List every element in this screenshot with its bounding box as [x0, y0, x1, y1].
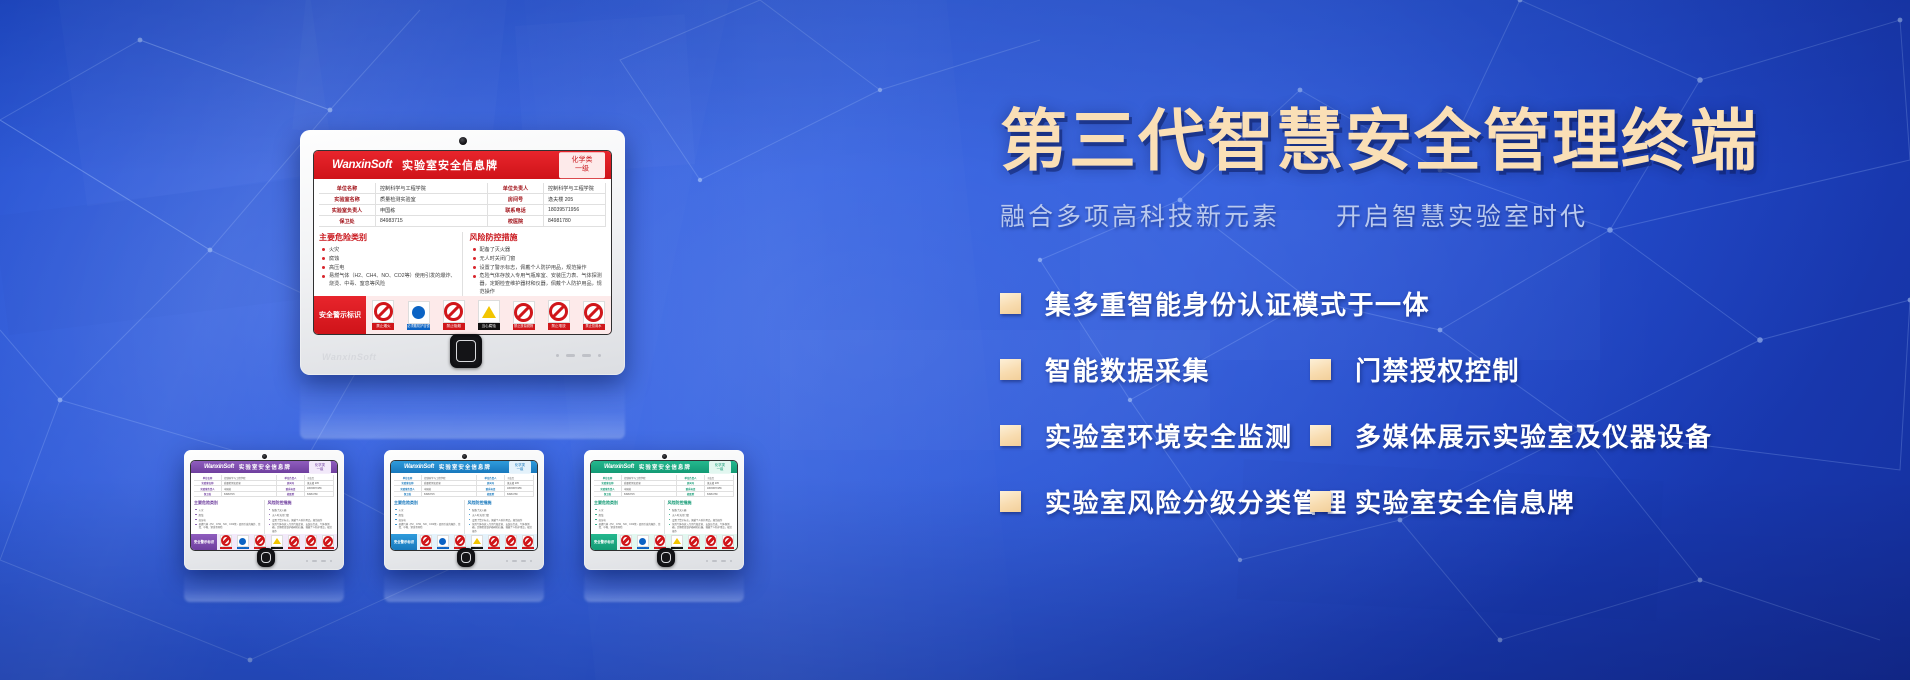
device-indicator-lights [506, 560, 532, 562]
cell-value: 84981780 [305, 492, 334, 498]
cell-value: 18039571956 [544, 205, 606, 216]
wanxinsoft-logo: WanxinSoft [604, 464, 634, 470]
sign-caption: 禁止放易燃物 [513, 324, 535, 330]
board-info-table: 单位名称 控制科学与工程学院 单位负责人 于连军 实验室名称 质量检测实验室 房… [194, 475, 334, 497]
list-item-text: 设置了警示标志，佩戴个人防护用品，规范操作 [272, 518, 334, 522]
cell-value: 控制科学与工程学院 [544, 183, 606, 194]
camera-icon [662, 454, 667, 459]
sign-no-drinking-water-icon: 禁止饮用水 [522, 535, 534, 549]
sign-caption: 禁止饮用水 [722, 547, 734, 549]
tablet-reflection [584, 572, 744, 602]
thumbnail-screen[interactable]: WanxinSoft 实验室安全信息牌 化学类 一级 单位名称 控制科学与工程学… [191, 461, 337, 550]
device-brand-etch: WanxinSoft [322, 352, 376, 362]
sign-no-flammables-icon: 禁止放易燃物 [688, 535, 700, 549]
safety-info-board-mini: WanxinSoft 实验室安全信息牌 化学类 一级 单位名称 控制科学与工程学… [191, 461, 337, 550]
list-item-text: 设置了警示标志，佩戴个人防护用品，规范操作 [480, 264, 607, 271]
warning-signs-strip: 禁止烟火 必须戴防护目镜 禁止吸烟 当心腐蚀 禁止放易燃物 禁止堆放 禁止饮用水 [617, 534, 737, 550]
list-item: 设置了警示标志，佩戴个人防护用品，规范操作 [268, 518, 335, 522]
sign-caption: 禁止烟火 [420, 547, 432, 549]
list-item-text: 配备了灭火器 [272, 508, 334, 512]
list-item-text: 高压电 [199, 518, 261, 522]
board-title: 实验室安全信息牌 [402, 157, 498, 173]
camera-icon [262, 454, 267, 459]
thumbnail-screen[interactable]: WanxinSoft 实验室安全信息牌 化学类 一级 单位名称 控制科学与工程学… [591, 461, 737, 550]
feature-row-2: 智能数据采集 门禁授权控制 [1000, 351, 1880, 388]
sign-no-flammables-icon: 禁止放易燃物 [288, 535, 300, 549]
risk-control-column: 风险防控措施 配备了灭火器 无人时关闭门窗 设置了警示标志，佩戴个人防护用品，规… [264, 500, 335, 533]
list-item: 危险气体存放入专用气瓶库室、安装压力表、气体探测器，定期检查维护器材和仪器，佩戴… [470, 273, 607, 296]
board-risk-columns: 主要危险类别 火灾 腐蚀 高压电 易燃气体（H2、CH4、NO、CO2等）使用引… [394, 500, 534, 533]
list-item: 危险气体存放入专用气瓶库室、安装压力表、气体探测器，定期检查维护器材和仪器，佩戴… [468, 523, 535, 534]
hazard-category-column: 主要危险类别 火灾 腐蚀 高压电 [319, 232, 462, 296]
list-item-text: 易燃气体（H2、CH4、NO、CO2等）使用引发的爆炸、烧烫、中毒、窒息等风险 [599, 523, 661, 530]
sign-no-smoking-icon: 禁止吸烟 [454, 535, 466, 549]
sign-caption: 禁止放易燃物 [688, 547, 700, 549]
home-button[interactable] [257, 548, 275, 567]
list-item-text: 易燃气体（H2、CH4、NO、CO2等）使用引发的爆炸、烧烫、中毒、窒息等风险 [329, 273, 456, 288]
feature-row-3: 实验室环境安全监测 多媒体展示实验室及仪器设备 [1000, 417, 1880, 454]
list-item-text: 腐蚀 [329, 255, 456, 262]
list-item: 火灾 [594, 508, 661, 512]
list-item-text: 无人时关闭门窗 [672, 513, 734, 517]
warning-signs-strip: 禁止烟火 必须戴防护目镜 禁止吸烟 当心腐蚀 禁止放易燃物 禁止堆放 禁止饮用水 [417, 534, 537, 550]
list-item-text: 高压电 [399, 518, 461, 522]
subtitle-right: 开启智慧实验室时代 [1336, 197, 1588, 233]
risk-level-badge: 化学类 一级 [559, 152, 605, 178]
cell-value: 逸夫楼 205 [544, 194, 606, 205]
badge-level: 一级 [509, 467, 531, 471]
cell-value: 84981780 [505, 492, 534, 498]
cell-value: 控制科学与工程学院 [376, 183, 488, 194]
sign-caption: 禁止放易燃物 [288, 547, 300, 549]
board-header: WanxinSoft 实验室安全信息牌 化学类 一级 [591, 461, 737, 473]
thumbnail-tablet-purple[interactable]: WanxinSoft 实验室安全信息牌 化学类 一级 单位名称 控制科学与工程学… [184, 450, 344, 570]
home-button[interactable] [657, 548, 675, 567]
list-item: 无人时关闭门窗 [268, 513, 335, 517]
board-info-table: 单位名称 控制科学与工程学院 单位负责人 控制科学与工程学院 实验室名称 质量检… [319, 183, 606, 227]
list-item: 设置了警示标志，佩戴个人防护用品，规范操作 [470, 264, 607, 271]
feature-item-safety-board[interactable]: 实验室安全信息牌 [1310, 483, 1575, 520]
sign-no-stacking-icon: 禁止堆放 [548, 300, 570, 330]
list-item: 配备了灭火器 [470, 246, 607, 253]
cell-value: 申国栋 [376, 205, 488, 216]
signs-label: 安全警示标识 [591, 539, 617, 544]
warning-signs-strip: 禁止烟火 必须戴防护目镜 禁止吸烟 当心腐蚀 禁止放易燃物 禁止堆放 禁止饮用水 [217, 534, 337, 550]
list-item: 易燃气体（H2、CH4、NO、CO2等）使用引发的爆炸、烧烫、中毒、窒息等风险 [594, 523, 661, 530]
risk-control-column: 风险防控措施 配备了灭火器 无人时关闭门窗 设置了警示标志，佩戴个人防护用品，规… [464, 500, 535, 533]
list-item-text: 危险气体存放入专用气瓶库室、安装压力表、气体探测器，定期检查维护器材和仪器，佩戴… [272, 523, 334, 534]
cell-label: 单位负责人 [488, 183, 544, 194]
risk-level-badge: 化学类 一级 [509, 461, 531, 473]
cell-label: 保卫处 [194, 492, 222, 498]
tablet-reflection [300, 379, 625, 439]
board-info-table: 单位名称 控制科学与工程学院 单位负责人 于连军 实验室名称 质量检测实验室 房… [594, 475, 734, 497]
feature-row-1: 集多重智能身份认证模式于一体 [1000, 285, 1880, 322]
list-item-text: 设置了警示标志，佩戴个人防护用品，规范操作 [672, 518, 734, 522]
bullet-square-icon [1310, 359, 1331, 380]
main-tablet-screen[interactable]: WanxinSoft 实验室安全信息牌 化学类 一级 单位名称 控制科学与工程学… [314, 151, 611, 334]
sign-no-smoking-icon: 禁止吸烟 [443, 300, 465, 330]
list-item-text: 火灾 [329, 246, 456, 253]
sign-caption: 禁止烟火 [220, 547, 232, 549]
feature-item-data-collection[interactable]: 智能数据采集 [1000, 351, 1310, 388]
risk-control-column: 风险防控措施 配备了灭火器 无人时关闭门窗 设置了警 [462, 232, 607, 296]
device-indicator-lights [306, 560, 332, 562]
feature-label: 多媒体展示实验室及仪器设备 [1355, 417, 1713, 454]
list-item: 高压电 [394, 518, 461, 522]
board-info-table: 单位名称 控制科学与工程学院 单位负责人 于连军 实验室名称 质量检测实验室 房… [394, 475, 534, 497]
sign-no-fire-icon: 禁止烟火 [220, 535, 232, 549]
page-title: 第三代智慧安全管理终端 [1000, 108, 1880, 175]
list-item: 腐蚀 [594, 513, 661, 517]
safety-info-board: WanxinSoft 实验室安全信息牌 化学类 一级 单位名称 控制科学与工程学… [314, 151, 611, 334]
sign-corrosive-warning-icon: 当心腐蚀 [271, 535, 283, 549]
sign-wear-goggles-icon: 必须戴防护目镜 [637, 535, 649, 549]
wanxinsoft-logo: WanxinSoft [204, 464, 234, 470]
badge-level: 一级 [709, 467, 731, 471]
column-header: 风险防控措施 [468, 500, 535, 506]
feature-item-multimedia-display[interactable]: 多媒体展示实验室及仪器设备 [1310, 417, 1713, 454]
warning-signs-strip: 禁止烟火 必须戴防护目镜 禁止吸烟 [366, 296, 611, 334]
table-row: 保卫处 84983715 校医院 84981780 [394, 492, 534, 498]
sign-no-fire-icon: 禁止烟火 [620, 535, 632, 549]
feature-label: 集多重智能身份认证模式于一体 [1045, 285, 1430, 322]
list-item: 易燃气体（H2、CH4、NO、CO2等）使用引发的爆炸、烧烫、中毒、窒息等风险 [394, 523, 461, 530]
sign-no-stacking-icon: 禁止堆放 [505, 535, 517, 549]
sign-corrosive-warning-icon: 当心腐蚀 [478, 300, 500, 330]
sign-caption: 禁止饮用水 [522, 547, 534, 549]
list-item: 配备了灭火器 [468, 508, 535, 512]
sign-no-drinking-water-icon: 禁止饮用水 [583, 301, 605, 330]
list-item: 危险气体存放入专用气瓶库室、安装压力表、气体探测器，定期检查维护器材和仪器，佩戴… [268, 523, 335, 534]
cell-value: 84983715 [376, 216, 488, 227]
cell-value: 84983715 [222, 492, 277, 498]
sign-caption: 当心腐蚀 [471, 547, 483, 549]
feature-label: 实验室环境安全监测 [1045, 417, 1293, 454]
sign-caption: 当心腐蚀 [271, 547, 283, 549]
list-item-text: 腐蚀 [199, 513, 261, 517]
sign-no-drinking-water-icon: 禁止饮用水 [722, 535, 734, 549]
column-header: 主要危险类别 [194, 500, 261, 506]
safety-info-board-mini: WanxinSoft 实验室安全信息牌 化学类 一级 单位名称 控制科学与工程学… [391, 461, 537, 550]
bullet-square-icon [1000, 359, 1021, 380]
thumbnail-screen[interactable]: WanxinSoft 实验室安全信息牌 化学类 一级 单位名称 控制科学与工程学… [391, 461, 537, 550]
list-item-text: 易燃气体（H2、CH4、NO、CO2等）使用引发的爆炸、烧烫、中毒、窒息等风险 [399, 523, 461, 530]
sign-no-flammables-icon: 禁止放易燃物 [513, 301, 535, 330]
cell-value: 84981780 [705, 492, 734, 498]
table-row: 实验室负责人 申国栋 联系电话 18039571956 [319, 205, 606, 216]
sign-caption: 必须戴防护目镜 [637, 547, 649, 549]
list-item: 高压电 [319, 264, 456, 271]
cell-label: 房间号 [488, 194, 544, 205]
list-item-text: 配备了灭火器 [672, 508, 734, 512]
sign-caption: 必须戴防护目镜 [407, 324, 429, 330]
sign-caption: 必须戴防护目镜 [437, 547, 449, 549]
list-item: 配备了灭火器 [668, 508, 735, 512]
signs-label: 安全警示标识 [391, 539, 417, 544]
list-item-text: 无人时关闭门窗 [480, 255, 607, 262]
sign-caption: 禁止饮用水 [322, 547, 334, 549]
sign-corrosive-warning-icon: 当心腐蚀 [671, 535, 683, 549]
signs-label: 安全警示标识 [314, 310, 366, 320]
cell-label: 校医院 [277, 492, 305, 498]
sign-wear-goggles-icon: 必须戴防护目镜 [407, 301, 429, 330]
board-signs-footer: 安全警示标识 禁止烟火 必须戴防护目镜 [314, 296, 611, 334]
list-item-text: 高压电 [329, 264, 456, 271]
table-row: 实验室名称 质量检测实验室 房间号 逸夫楼 205 [319, 194, 606, 205]
thumbnail-tablet-blue[interactable]: WanxinSoft 实验室安全信息牌 化学类 一级 单位名称 控制科学与工程学… [384, 450, 544, 570]
board-risk-columns: 主要危险类别 火灾 腐蚀 高压电 易燃气体（H2、CH4、NO、CO2等）使用引… [594, 500, 734, 533]
list-item-text: 腐蚀 [399, 513, 461, 517]
sign-caption: 当心腐蚀 [671, 547, 683, 549]
sign-caption: 禁止烟火 [372, 323, 394, 330]
feature-label: 智能数据采集 [1045, 351, 1210, 388]
cell-label: 保卫处 [394, 492, 422, 498]
signs-label: 安全警示标识 [191, 539, 217, 544]
column-header: 风险防控措施 [470, 232, 607, 243]
list-item: 配备了灭火器 [268, 508, 335, 512]
thumbnail-tablet-green[interactable]: WanxinSoft 实验室安全信息牌 化学类 一级 单位名称 控制科学与工程学… [584, 450, 744, 570]
table-row: 保卫处 84983715 校医院 84981780 [594, 492, 734, 498]
sign-caption: 禁止堆放 [305, 547, 317, 549]
list-item-text: 危险气体存放入专用气瓶库室、安装压力表、气体探测器，定期检查维护器材和仪器，佩戴… [672, 523, 734, 534]
list-item-text: 火灾 [199, 508, 261, 512]
feature-item-environment-monitor[interactable]: 实验室环境安全监测 [1000, 417, 1310, 454]
board-header: WanxinSoft 实验室安全信息牌 化学类 一级 [191, 461, 337, 473]
list-item: 火灾 [319, 246, 456, 253]
list-item-text: 无人时关闭门窗 [272, 513, 334, 517]
cell-label: 保卫处 [594, 492, 622, 498]
tablet-reflection [184, 572, 344, 602]
list-item: 腐蚀 [194, 513, 261, 517]
list-item: 腐蚀 [394, 513, 461, 517]
list-item: 高压电 [594, 518, 661, 522]
sign-no-stacking-icon: 禁止堆放 [305, 535, 317, 549]
sign-caption: 禁止饮用水 [583, 324, 605, 330]
risk-control-column: 风险防控措施 配备了灭火器 无人时关闭门窗 设置了警示标志，佩戴个人防护用品，规… [664, 500, 735, 533]
hazard-category-column: 主要危险类别 火灾 腐蚀 高压电 易燃气体（H2、CH4、NO、CO2等）使用引… [194, 500, 264, 533]
feature-label: 门禁授权控制 [1355, 351, 1520, 388]
list-item: 火灾 [394, 508, 461, 512]
sign-caption: 禁止堆放 [548, 323, 570, 330]
sign-no-flammables-icon: 禁止放易燃物 [488, 535, 500, 549]
hero-text-panel: 第三代智慧安全管理终端 融合多项高科技新元素 开启智慧实验室时代 集多重智能身份… [1000, 108, 1880, 549]
device-indicator-lights [556, 354, 601, 357]
feature-list: 集多重智能身份认证模式于一体 智能数据采集 门禁授权控制 实验室环境安全监测 [1000, 285, 1880, 520]
sign-no-drinking-water-icon: 禁止饮用水 [322, 535, 334, 549]
list-item-text: 火灾 [599, 508, 661, 512]
list-item: 易燃气体（H2、CH4、NO、CO2等）使用引发的爆炸、烧烫、中毒、窒息等风险 [194, 523, 261, 530]
wanxinsoft-logo: WanxinSoft [332, 159, 392, 171]
feature-item-access-control[interactable]: 门禁授权控制 [1310, 351, 1520, 388]
sign-no-stacking-icon: 禁止堆放 [705, 535, 717, 549]
feature-item-risk-grading[interactable]: 实验室风险分级分类管理 [1000, 483, 1310, 520]
cell-value: 84983715 [622, 492, 677, 498]
feature-item-identity-auth[interactable]: 集多重智能身份认证模式于一体 [1000, 285, 1430, 322]
camera-icon [462, 454, 467, 459]
list-item: 高压电 [194, 518, 261, 522]
list-item: 火灾 [194, 508, 261, 512]
sign-wear-goggles-icon: 必须戴防护目镜 [237, 535, 249, 549]
bullet-square-icon [1000, 293, 1021, 314]
badge-level: 一级 [309, 467, 331, 471]
device-indicator-lights [706, 560, 732, 562]
list-item: 腐蚀 [319, 255, 456, 262]
home-button[interactable] [450, 334, 482, 368]
feature-label: 实验室安全信息牌 [1355, 483, 1575, 520]
sign-caption: 禁止堆放 [705, 547, 717, 549]
sign-corrosive-warning-icon: 当心腐蚀 [471, 535, 483, 549]
bullet-square-icon [1310, 491, 1331, 512]
feature-label: 实验室风险分级分类管理 [1045, 483, 1348, 520]
bullet-square-icon [1310, 425, 1331, 446]
risk-level-badge: 化学类 一级 [709, 461, 731, 473]
list-item: 无人时关闭门窗 [668, 513, 735, 517]
list-item-text: 无人时关闭门窗 [472, 513, 534, 517]
cell-label: 校医院 [488, 216, 544, 227]
table-row: 单位名称 控制科学与工程学院 单位负责人 控制科学与工程学院 [319, 183, 606, 194]
list-item: 无人时关闭门窗 [468, 513, 535, 517]
list-item: 无人时关闭门窗 [470, 255, 607, 262]
sign-no-fire-icon: 禁止烟火 [420, 535, 432, 549]
camera-icon [459, 137, 467, 145]
cell-label: 校医院 [677, 492, 705, 498]
column-header: 风险防控措施 [668, 500, 735, 506]
sign-wear-goggles-icon: 必须戴防护目镜 [437, 535, 449, 549]
table-row: 保卫处 84983715 校医院 84981780 [194, 492, 334, 498]
column-header: 主要危险类别 [319, 232, 456, 243]
list-item-text: 火灾 [399, 508, 461, 512]
cell-label: 校医院 [477, 492, 505, 498]
column-header: 风险防控措施 [268, 500, 335, 506]
sign-caption: 禁止堆放 [505, 547, 517, 549]
list-item-text: 设置了警示标志，佩戴个人防护用品，规范操作 [472, 518, 534, 522]
sign-no-smoking-icon: 禁止吸烟 [254, 535, 266, 549]
list-item: 易燃气体（H2、CH4、NO、CO2等）使用引发的爆炸、烧烫、中毒、窒息等风险 [319, 273, 456, 288]
bullet-square-icon [1000, 491, 1021, 512]
sign-caption: 禁止吸烟 [443, 323, 465, 330]
board-title: 实验室安全信息牌 [639, 463, 691, 471]
board-risk-columns: 主要危险类别 火灾 腐蚀 高压电 易燃气体（H2、CH4、NO、CO2等）使用引… [194, 500, 334, 533]
cell-label: 联系电话 [488, 205, 544, 216]
column-header: 主要危险类别 [594, 500, 661, 506]
risk-level-badge: 化学类 一级 [309, 461, 331, 473]
cell-value: 84983715 [422, 492, 477, 498]
list-item-text: 腐蚀 [599, 513, 661, 517]
main-tablet-device: WanxinSoft 实验室安全信息牌 化学类 一级 单位名称 控制科学与工程学… [300, 130, 625, 375]
hazard-category-column: 主要危险类别 火灾 腐蚀 高压电 易燃气体（H2、CH4、NO、CO2等）使用引… [394, 500, 464, 533]
cell-label: 实验室名称 [319, 194, 376, 205]
list-item-text: 危险气体存放入专用气瓶库室、安装压力表、气体探测器，定期检查维护器材和仪器，佩戴… [480, 273, 607, 296]
sign-caption: 当心腐蚀 [478, 323, 500, 330]
column-header: 主要危险类别 [394, 500, 461, 506]
list-item-text: 配备了灭火器 [472, 508, 534, 512]
wanxinsoft-logo: WanxinSoft [404, 464, 434, 470]
cell-label: 实验室负责人 [319, 205, 376, 216]
badge-category: 化学类 [559, 156, 605, 165]
safety-info-board-mini: WanxinSoft 实验室安全信息牌 化学类 一级 单位名称 控制科学与工程学… [591, 461, 737, 550]
cell-label: 单位名称 [319, 183, 376, 194]
sign-caption: 禁止烟火 [620, 547, 632, 549]
list-item-text: 易燃气体（H2、CH4、NO、CO2等）使用引发的爆炸、烧烫、中毒、窒息等风险 [199, 523, 261, 530]
cell-value: 84981780 [544, 216, 606, 227]
cell-value: 质量检测实验室 [376, 194, 488, 205]
list-item: 设置了警示标志，佩戴个人防护用品，规范操作 [668, 518, 735, 522]
list-item: 危险气体存放入专用气瓶库室、安装压力表、气体探测器，定期检查维护器材和仪器，佩戴… [668, 523, 735, 534]
board-header: WanxinSoft 实验室安全信息牌 化学类 一级 [314, 151, 611, 179]
sign-no-smoking-icon: 禁止吸烟 [654, 535, 666, 549]
sign-caption: 必须戴防护目镜 [237, 547, 249, 549]
cell-label: 保卫处 [319, 216, 376, 227]
list-item-text: 配备了灭火器 [480, 246, 607, 253]
list-item-text: 危险气体存放入专用气瓶库室、安装压力表、气体探测器，定期检查维护器材和仪器，佩戴… [472, 523, 534, 534]
board-title: 实验室安全信息牌 [239, 463, 291, 471]
bullet-square-icon [1000, 425, 1021, 446]
tablet-reflection [384, 572, 544, 602]
sign-caption: 禁止放易燃物 [488, 547, 500, 549]
page-subtitle: 融合多项高科技新元素 开启智慧实验室时代 [1000, 197, 1880, 233]
feature-row-4: 实验室风险分级分类管理 实验室安全信息牌 [1000, 483, 1880, 520]
sign-no-fire-icon: 禁止烟火 [372, 300, 394, 330]
board-risk-columns: 主要危险类别 火灾 腐蚀 高压电 [319, 232, 606, 296]
list-item: 设置了警示标志，佩戴个人防护用品，规范操作 [468, 518, 535, 522]
hazard-category-column: 主要危险类别 火灾 腐蚀 高压电 易燃气体（H2、CH4、NO、CO2等）使用引… [594, 500, 664, 533]
subtitle-left: 融合多项高科技新元素 [1000, 197, 1280, 233]
table-row: 保卫处 84983715 校医院 84981780 [319, 216, 606, 227]
list-item-text: 高压电 [599, 518, 661, 522]
hero-banner: WanxinSoft 实验室安全信息牌 化学类 一级 单位名称 控制科学与工程学… [0, 0, 1910, 680]
board-title: 实验室安全信息牌 [439, 463, 491, 471]
badge-level: 一级 [559, 165, 605, 174]
board-header: WanxinSoft 实验室安全信息牌 化学类 一级 [391, 461, 537, 473]
home-button[interactable] [457, 548, 475, 567]
